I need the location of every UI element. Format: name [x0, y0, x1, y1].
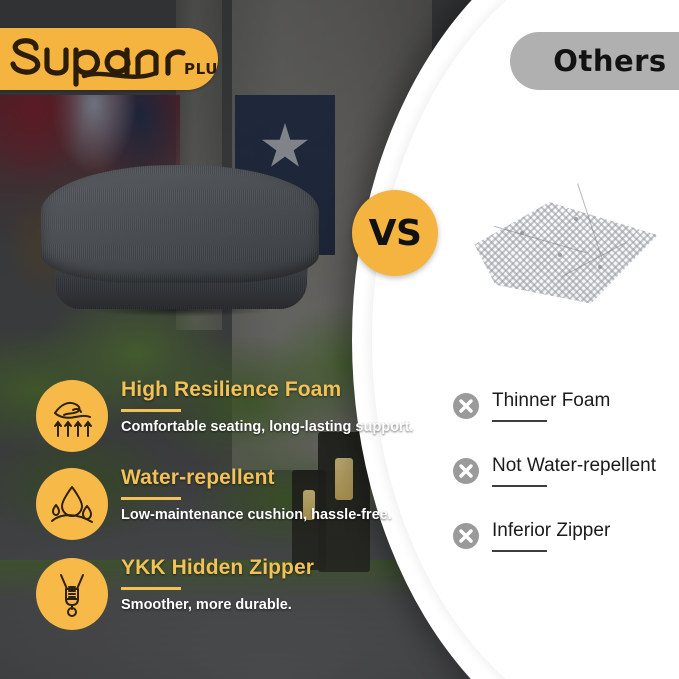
x-circle-icon	[452, 457, 480, 485]
con-text-block: Inferior Zipper	[492, 520, 679, 552]
con-item-thinner-foam: Thinner Foam	[452, 392, 679, 444]
con-text-block: Not Water-repellent	[492, 455, 679, 487]
con-divider	[492, 420, 547, 422]
feature-title: Water-repellent	[121, 466, 421, 490]
others-header-badge: Others	[510, 32, 679, 90]
water-droplet-repel-icon	[36, 468, 108, 540]
con-item-not-water-repellent: Not Water-repellent	[452, 457, 679, 509]
con-text-block: Thinner Foam	[492, 390, 679, 422]
feature-item-ykk-hidden-zipper: YKK Hidden Zipper Smoother, more durable…	[36, 556, 376, 636]
competitor-cushion-pad	[462, 195, 670, 313]
cushion-tuft	[598, 265, 602, 269]
feature-title: High Resilience Foam	[121, 378, 421, 402]
hand-press-resilience-icon	[36, 380, 108, 452]
cushion-tuft	[558, 253, 562, 257]
con-item-inferior-zipper: Inferior Zipper	[452, 522, 679, 574]
feature-text-block: Water-repellent Low-maintenance cushion,…	[121, 466, 421, 523]
x-circle-icon	[452, 522, 480, 550]
feature-divider	[121, 587, 181, 590]
feature-item-high-resilience-foam: High Resilience Foam Comfortable seating…	[36, 378, 376, 458]
cushion-tuft	[520, 231, 524, 235]
brand-logo-badge: PLUS	[0, 28, 218, 90]
versus-badge: VS	[352, 190, 438, 276]
svg-text:PLUS: PLUS	[184, 60, 218, 78]
zipper-icon	[36, 558, 108, 630]
con-divider	[492, 550, 547, 552]
others-label: Others	[553, 44, 666, 78]
con-divider	[492, 485, 547, 487]
feature-divider	[121, 409, 181, 412]
con-label: Inferior Zipper	[492, 520, 679, 542]
feature-title: YKK Hidden Zipper	[121, 556, 421, 580]
feature-divider	[121, 497, 181, 500]
feature-text-block: High Resilience Foam Comfortable seating…	[121, 378, 421, 435]
feature-description: Comfortable seating, long-lasting suppor…	[121, 419, 421, 435]
feature-item-water-repellent: Water-repellent Low-maintenance cushion,…	[36, 466, 376, 546]
product-image-theirs	[462, 195, 670, 313]
cushion-top-surface	[41, 165, 319, 283]
product-image-ours	[35, 165, 325, 320]
comparison-infographic: PLUS Others VS	[0, 0, 679, 679]
feature-description: Smoother, more durable.	[121, 597, 421, 613]
feature-description: Low-maintenance cushion, hassle-free.	[121, 507, 421, 523]
feature-text-block: YKK Hidden Zipper Smoother, more durable…	[121, 556, 421, 613]
versus-label: VS	[369, 213, 422, 254]
cushion-tuft	[574, 217, 578, 221]
con-label: Not Water-repellent	[492, 455, 679, 477]
x-circle-icon	[452, 392, 480, 420]
con-label: Thinner Foam	[492, 390, 679, 412]
brand-wordmark: PLUS	[0, 28, 218, 90]
